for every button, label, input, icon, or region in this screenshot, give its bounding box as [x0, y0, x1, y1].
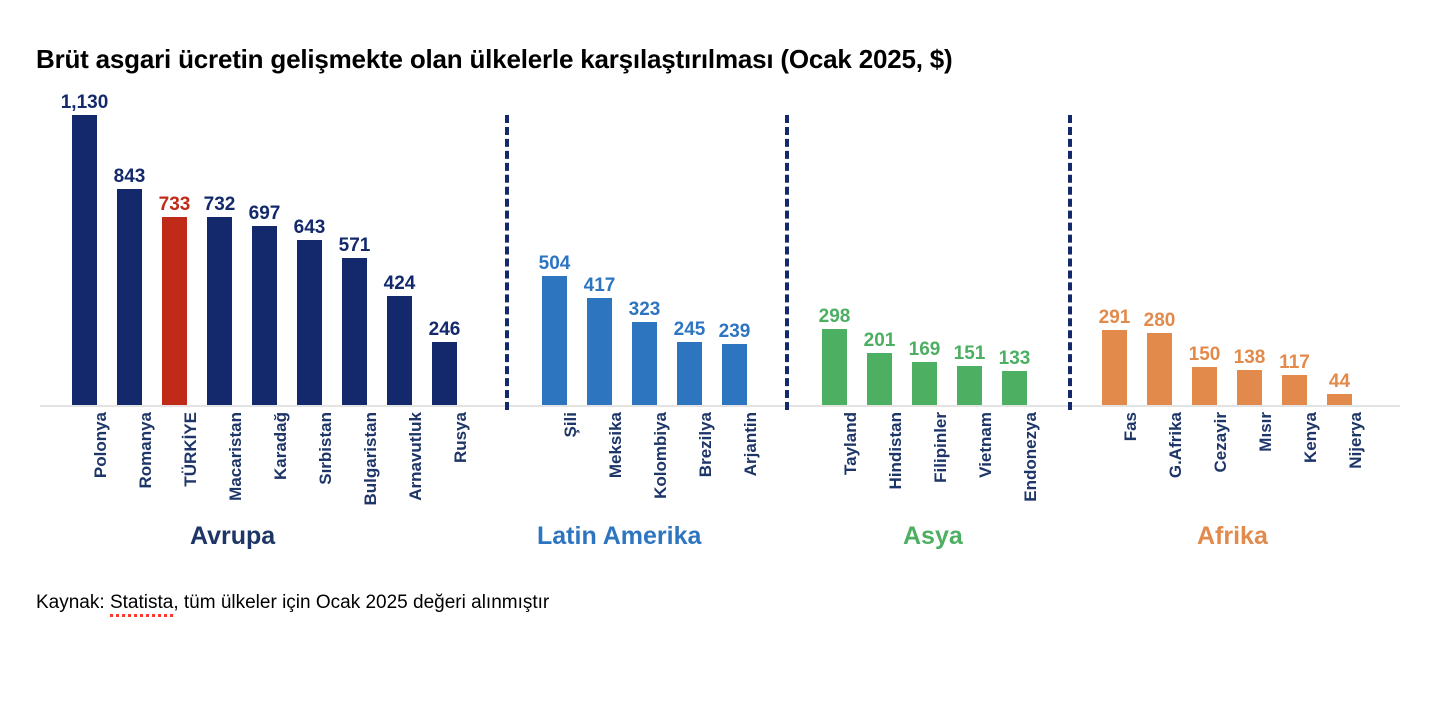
bar-rect[interactable]: [252, 226, 277, 405]
bar-value-label: 298: [819, 307, 851, 329]
bar-rect[interactable]: [677, 342, 702, 405]
category-label-slot: Filipinler: [902, 412, 947, 522]
category-label-slot: Macaristan: [197, 412, 242, 522]
bar-value-label: 291: [1099, 308, 1131, 330]
bar-value-label: 151: [954, 344, 986, 366]
bar-rect[interactable]: [1002, 371, 1027, 405]
bar-value-label: 732: [204, 195, 236, 217]
bar-value-label: 133: [999, 349, 1031, 371]
bar-item[interactable]: 151: [947, 105, 992, 405]
bar-rect[interactable]: [297, 240, 322, 405]
bar-value-label: 417: [584, 276, 616, 298]
bar-rect[interactable]: [1327, 394, 1352, 405]
section-divider-2: [785, 115, 789, 410]
category-label-slot: Hindistan: [857, 412, 902, 522]
category-label-slot: Tayland: [812, 412, 857, 522]
category-label-slot: Arnavutluk: [377, 412, 422, 522]
bars-container: 29128015013811744: [1092, 105, 1362, 405]
bar-item[interactable]: 732: [197, 105, 242, 405]
category-labels-container: TaylandHindistanFilipinlerVietnamEndonez…: [812, 412, 1037, 522]
bar-value-label: 280: [1144, 311, 1176, 333]
category-label-slot: Rusya: [422, 412, 467, 522]
category-label-slot: Kenya: [1272, 412, 1317, 522]
bar-rect[interactable]: [342, 258, 367, 405]
bar-item[interactable]: 201: [857, 105, 902, 405]
bar-value-label: 150: [1189, 345, 1221, 367]
bar-rect[interactable]: [72, 115, 97, 405]
source-prefix: Kaynak:: [36, 592, 110, 613]
bars-container: 1,130843733732697643571424246: [62, 105, 467, 405]
category-label: Rusya: [451, 412, 471, 463]
bar-item[interactable]: 417: [577, 105, 622, 405]
category-label-slot: G.Afrika: [1137, 412, 1182, 522]
bar-value-label: 323: [629, 300, 661, 322]
section-divider-3: [1068, 115, 1072, 410]
bar-value-label: 1,130: [61, 93, 109, 115]
category-label: Endonezya: [1021, 412, 1041, 502]
category-label-slot: Karadağ: [242, 412, 287, 522]
bar-value-label: 643: [294, 218, 326, 240]
bar-item[interactable]: 44: [1317, 105, 1362, 405]
bar-value-label: 571: [339, 236, 371, 258]
category-label-slot: Kolombiya: [622, 412, 667, 522]
bar-value-label: 117: [1279, 353, 1310, 375]
bar-rect[interactable]: [1237, 370, 1262, 405]
bar-value-label: 424: [384, 274, 416, 296]
bar-item[interactable]: 133: [992, 105, 1037, 405]
bar-item[interactable]: 1,130: [62, 105, 107, 405]
category-label-slot: Fas: [1092, 412, 1137, 522]
bar-item[interactable]: 697: [242, 105, 287, 405]
bar-value-label: 733: [159, 195, 191, 217]
bar-item[interactable]: 298: [812, 105, 857, 405]
bar-rect[interactable]: [822, 329, 847, 405]
bar-rect[interactable]: [387, 296, 412, 405]
bar-item[interactable]: 424: [377, 105, 422, 405]
bar-rect[interactable]: [1102, 330, 1127, 405]
bar-value-label: 697: [249, 204, 281, 226]
bar-item[interactable]: 291: [1092, 105, 1137, 405]
bar-value-label: 44: [1329, 372, 1350, 394]
bar-item[interactable]: 246: [422, 105, 467, 405]
bar-item[interactable]: 571: [332, 105, 377, 405]
category-labels-container: FasG.AfrikaCezayirMısırKenyaNijerya: [1092, 412, 1362, 522]
region-label-asya: Asya: [903, 522, 963, 551]
source-note: Kaynak: Statista, tüm ülkeler için Ocak …: [36, 592, 549, 614]
bar-item[interactable]: 643: [287, 105, 332, 405]
source-suffix: , tüm ülkeler için Ocak 2025 değeri alın…: [173, 592, 549, 613]
chart-baseline: [40, 405, 1400, 407]
category-labels-container: ŞiliMeksikaKolombiyaBrezilyaArjantin: [532, 412, 757, 522]
bar-rect[interactable]: [912, 362, 937, 405]
bar-rect[interactable]: [1282, 375, 1307, 405]
bar-item[interactable]: 117: [1272, 105, 1317, 405]
category-label-slot: TÜRKİYE: [152, 412, 197, 522]
chart-page: Brüt asgari ücretin gelişmekte olan ülke…: [0, 0, 1446, 710]
category-label-slot: Romanya: [107, 412, 152, 522]
category-label-slot: Sırbistan: [287, 412, 332, 522]
bar-item[interactable]: 245: [667, 105, 712, 405]
bar-rect[interactable]: [207, 217, 232, 405]
bar-rect[interactable]: [587, 298, 612, 405]
bar-value-label: 246: [429, 320, 461, 342]
bar-item[interactable]: 280: [1137, 105, 1182, 405]
bar-value-label: 843: [114, 167, 146, 189]
category-label-slot: Şili: [532, 412, 577, 522]
bar-item[interactable]: 843: [107, 105, 152, 405]
category-label: Arjantin: [741, 412, 761, 476]
category-label-slot: Arjantin: [712, 412, 757, 522]
category-label-slot: Bulgaristan: [332, 412, 377, 522]
category-label-slot: Meksika: [577, 412, 622, 522]
bar-value-label: 169: [909, 340, 941, 362]
category-label-slot: Polonya: [62, 412, 107, 522]
category-label-slot: Nijerya: [1317, 412, 1362, 522]
bar-item[interactable]: 138: [1227, 105, 1272, 405]
bar-rect[interactable]: [432, 342, 457, 405]
bar-item[interactable]: 504: [532, 105, 577, 405]
bar-item[interactable]: 239: [712, 105, 757, 405]
section-divider-1: [505, 115, 509, 410]
bars-container: 298201169151133: [812, 105, 1037, 405]
bar-rect[interactable]: [117, 189, 142, 405]
source-highlighted-term: Statista: [110, 592, 173, 617]
bar-value-label: 504: [539, 254, 571, 276]
bar-item[interactable]: 150: [1182, 105, 1227, 405]
bar-rect[interactable]: [722, 344, 747, 405]
bar-rect[interactable]: [957, 366, 982, 405]
bar-rect[interactable]: [1147, 333, 1172, 405]
bar-value-label: 245: [674, 320, 706, 342]
bar-rect[interactable]: [632, 322, 657, 405]
bars-container: 504417323245239: [532, 105, 757, 405]
bar-rect[interactable]: [162, 217, 187, 405]
region-label-latin-amerika: Latin Amerika: [537, 522, 701, 551]
bar-rect[interactable]: [542, 276, 567, 405]
category-label-slot: Endonezya: [992, 412, 1037, 522]
category-label: Nijerya: [1346, 412, 1366, 469]
category-labels-container: PolonyaRomanyaTÜRKİYEMacaristanKaradağSı…: [62, 412, 467, 522]
bar-value-label: 239: [719, 322, 751, 344]
bar-item[interactable]: 733: [152, 105, 197, 405]
bar-value-label: 201: [864, 331, 896, 353]
bar-value-label: 138: [1234, 348, 1266, 370]
category-label-slot: Cezayir: [1182, 412, 1227, 522]
bar-rect[interactable]: [867, 353, 892, 405]
region-label-avrupa: Avrupa: [190, 522, 275, 551]
bar-item[interactable]: 323: [622, 105, 667, 405]
category-label-slot: Brezilya: [667, 412, 712, 522]
bar-rect[interactable]: [1192, 367, 1217, 405]
region-label-afrika: Afrika: [1197, 522, 1268, 551]
bar-item[interactable]: 169: [902, 105, 947, 405]
chart-plot-area: 1,130843733732697643571424246PolonyaRoma…: [0, 0, 1446, 570]
category-label-slot: Mısır: [1227, 412, 1272, 522]
category-label-slot: Vietnam: [947, 412, 992, 522]
